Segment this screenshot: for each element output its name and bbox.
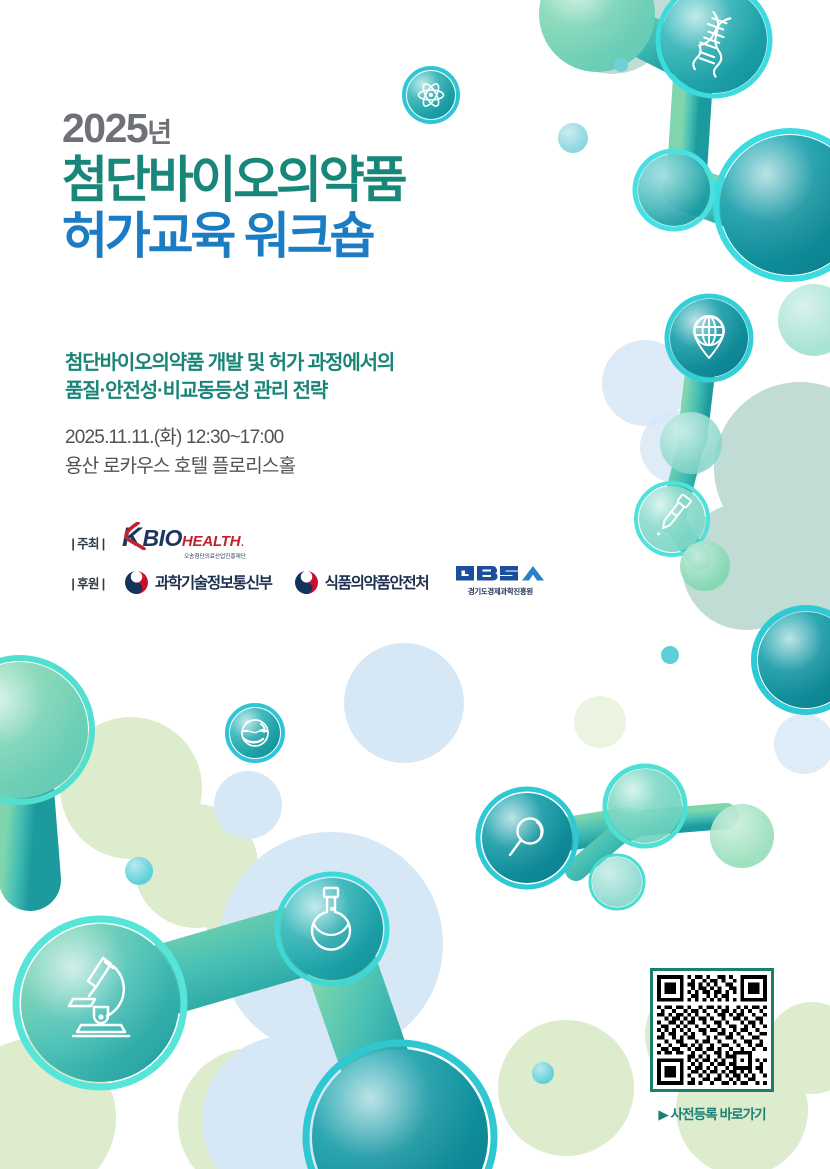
title-year: 2025년 [62, 108, 404, 149]
kbiohealth-k: K [122, 524, 141, 551]
event-details: 2025.11.11.(화) 12:30~17:00 용산 로카우스 호텔 플로… [65, 424, 295, 481]
poster-canvas: 2025년 첨단바이오의약품 허가교육 워크숍 첨단바이오의약품 개발 및 허가… [0, 0, 830, 1169]
registration-block[interactable]: ▶ 사전등록 바로가기 [650, 968, 774, 1123]
sponsor-logo-gbsa: 경기도경제과학진흥원 [454, 561, 546, 597]
qr-code[interactable] [650, 968, 774, 1092]
kbiohealth-bio: BIO [143, 527, 182, 550]
qr-code-image [657, 975, 767, 1085]
kbiohealth-subtext: 오송첨단의료산업진흥재단 [121, 552, 246, 560]
title-year-suffix: 년 [147, 118, 171, 148]
poster-title: 2025년 첨단바이오의약품 허가교육 워크숍 [62, 108, 404, 263]
event-datetime: 2025.11.11.(화) 12:30~17:00 [65, 424, 295, 453]
sponsor-name-msit: 과학기술정보통신부 [155, 571, 272, 593]
gbsa-wordmark-icon [454, 561, 546, 585]
host-label: | 주최 | [60, 533, 116, 552]
kbiohealth-dot: . [240, 534, 244, 549]
subtitle-line-1: 첨단바이오의약품 개발 및 허가 과정에서의 [65, 349, 394, 377]
subtitle-line-2: 품질·안전성·비교동등성 관리 전략 [65, 377, 394, 405]
host-row: | 주최 | K BIO HEALTH . 오송첨단의료산업진흥재단 [60, 527, 546, 557]
title-line-3: 허가교육 워크숍 [62, 209, 404, 263]
kbiohealth-swoosh-icon [120, 522, 146, 550]
gbsa-subtext: 경기도경제과학진흥원 [468, 586, 533, 597]
title-line-2: 첨단바이오의약품 [62, 153, 404, 207]
sponsor-logo-msit: 과학기술정보통신부 [124, 570, 272, 595]
event-venue: 용산 로카우스 호텔 플로리스홀 [65, 453, 295, 482]
taegeuk-icon [124, 570, 149, 595]
sponsor-logo-mfds: 식품의약품안전처 [294, 570, 429, 595]
sponsor-label: | 후원 | [60, 573, 116, 592]
sponsor-name-mfds: 식품의약품안전처 [325, 571, 429, 593]
credits-section: | 주최 | K BIO HEALTH . 오송첨단의료산업진흥재단 [60, 527, 546, 597]
title-year-number: 2025 [62, 105, 147, 151]
registration-cta-link[interactable]: ▶ 사전등록 바로가기 [650, 1103, 774, 1123]
kbiohealth-logo: K BIO HEALTH . 오송첨단의료산업진흥재단 [122, 524, 245, 560]
taegeuk-icon [294, 570, 319, 595]
poster-subtitle: 첨단바이오의약품 개발 및 허가 과정에서의 품질·안전성·비교동등성 관리 전… [65, 349, 394, 406]
sponsor-row: | 후원 | 과학기술정보통신부 식품의약품안전처 [60, 567, 546, 597]
kbiohealth-health: HEALTH [182, 534, 241, 549]
